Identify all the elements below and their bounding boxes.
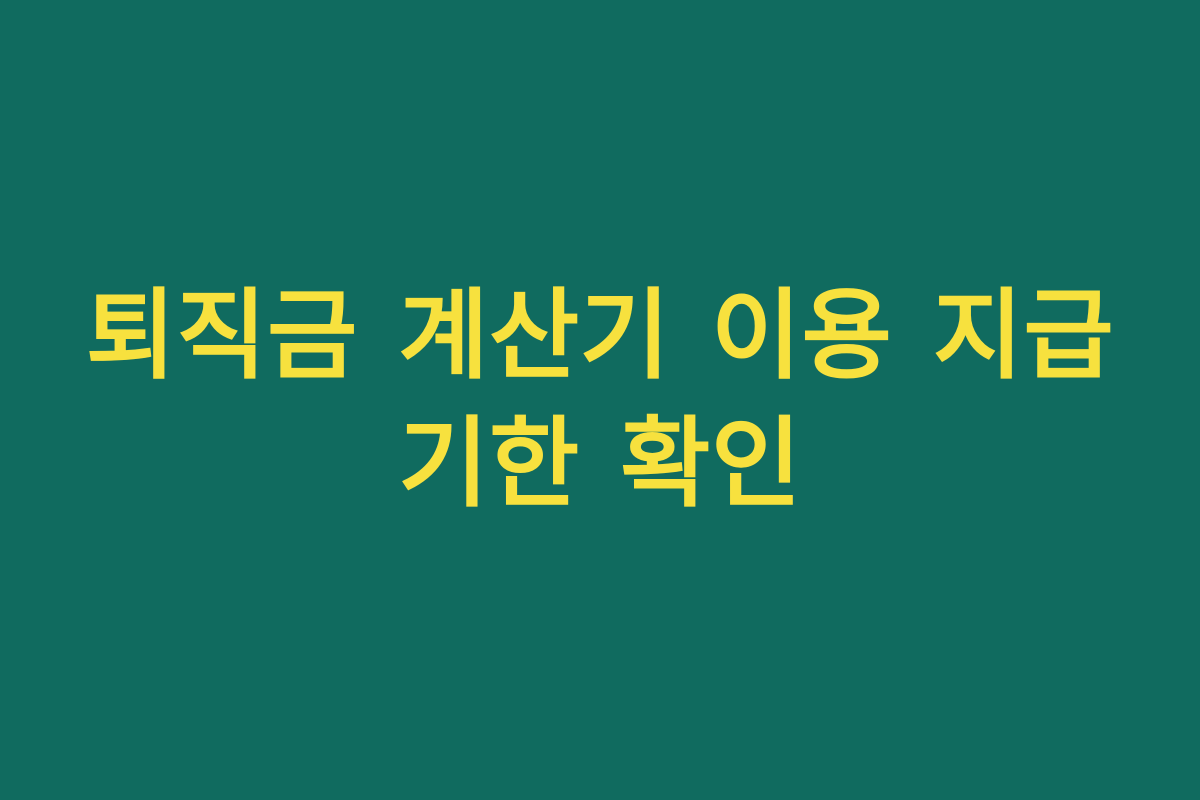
title-line-1: 퇴직금 계산기 이용 지급 [60,272,1140,400]
title-line-2: 기한 확인 [60,400,1140,528]
title-banner: 퇴직금 계산기 이용 지급 기한 확인 [0,0,1200,800]
page-title: 퇴직금 계산기 이용 지급 기한 확인 [60,272,1140,528]
banner-content: 퇴직금 계산기 이용 지급 기한 확인 [60,272,1140,528]
